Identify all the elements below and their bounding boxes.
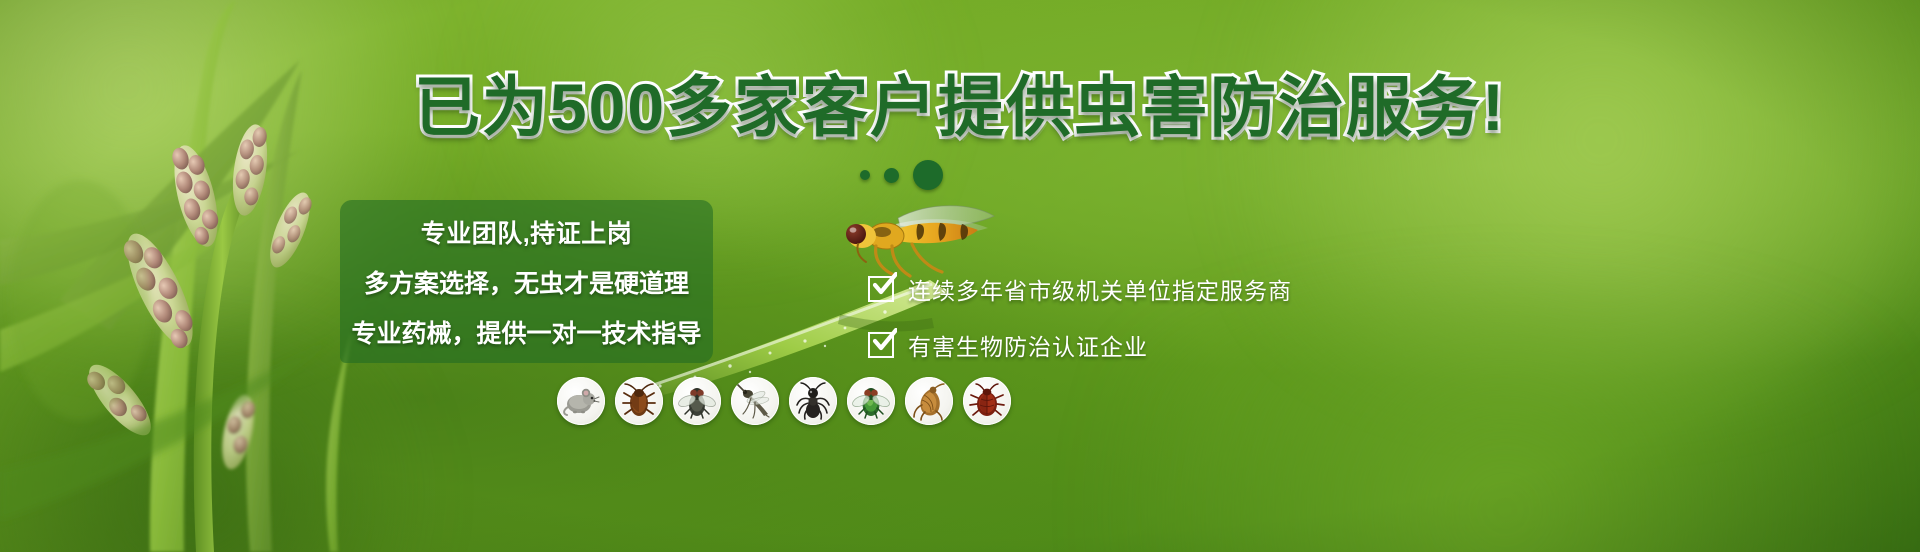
highlight-line-3: 专业药械，提供一对一技术指导	[351, 314, 701, 350]
flea-icon[interactable]	[905, 377, 953, 425]
list-item: 连续多年省市级机关单位指定服务商	[868, 272, 1292, 306]
dot-small-icon	[860, 170, 870, 180]
credentials-checklist: 连续多年省市级机关单位指定服务商 有害生物防治认证企业	[868, 272, 1292, 362]
highlights-panel-text: 专业团队,持证上岗 多方案选择，无虫才是硬道理 专业药械，提供一对一技术指导	[340, 200, 713, 363]
list-item: 有害生物防治认证企业	[868, 328, 1292, 362]
page-title: 已为500多家客户提供虫害防治服务!	[0, 74, 1920, 140]
checkbox-checked-icon	[868, 276, 894, 302]
promo-banner: 已为500多家客户提供虫害防治服务! 专业团队,持证上岗 多方案选择，无虫才是硬…	[0, 0, 1920, 552]
dot-large-icon	[913, 160, 943, 190]
dot-medium-icon	[884, 168, 899, 183]
credential-label: 连续多年省市级机关单位指定服务商	[908, 272, 1292, 306]
highlight-line-1: 专业团队,持证上岗	[421, 214, 632, 250]
headline-text: 已为500多家客户提供虫害防治服务!	[414, 70, 1506, 144]
mosquito-icon[interactable]	[731, 377, 779, 425]
bedbug-icon[interactable]	[963, 377, 1011, 425]
cockroach-icon[interactable]	[615, 377, 663, 425]
checkbox-checked-icon	[868, 332, 894, 358]
credential-label: 有害生物防治认证企业	[908, 328, 1148, 362]
decorative-dots	[860, 160, 943, 190]
highlight-line-2: 多方案选择，无虫才是硬道理	[364, 264, 689, 300]
mouse-icon[interactable]	[557, 377, 605, 425]
housefly-icon[interactable]	[673, 377, 721, 425]
greenbottle-fly-icon[interactable]	[847, 377, 895, 425]
ant-icon[interactable]	[789, 377, 837, 425]
pest-icon-row	[557, 377, 1011, 425]
